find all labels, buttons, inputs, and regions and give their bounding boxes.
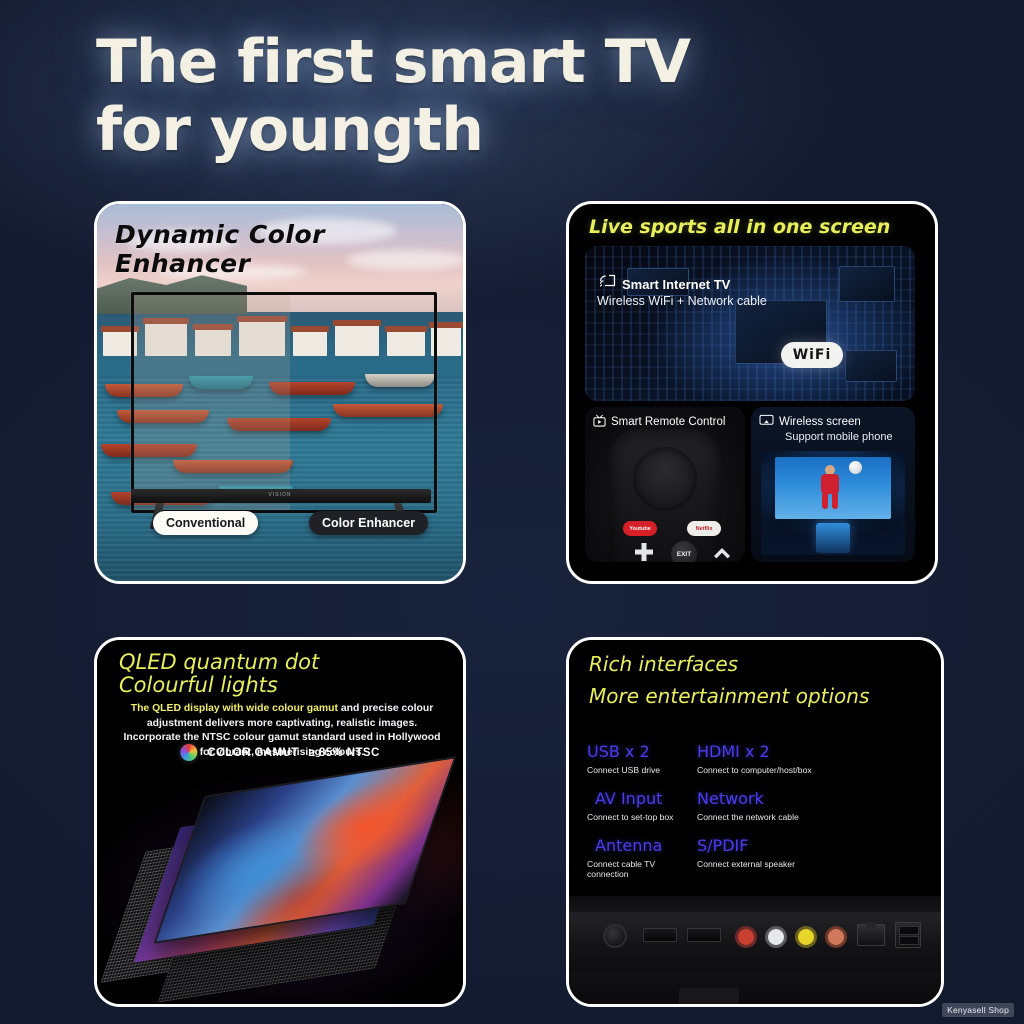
color-gamut-value: ≥ 85% NTSC [309,747,380,759]
interface-desc: Connect to set-top box [587,812,689,822]
interface-desc: Connect external speaker [697,859,917,869]
hdmi-port [687,928,721,942]
interface-item-network: Network Connect the network cable [697,789,917,822]
youtube-button[interactable]: Youtube [623,521,657,536]
rca-port-yellow [795,926,817,948]
smart-internet-tv-label: Smart Internet TV [622,277,730,292]
remote-dpad[interactable] [633,447,697,511]
stand-notch [679,988,739,1004]
panel-rich-interfaces[interactable]: Rich interfaces More entertainment optio… [566,637,944,1007]
mobile-phone [816,523,850,553]
rca-port-red [735,926,757,948]
coaxial-port [603,924,627,948]
interface-name: Antenna [595,836,689,855]
layer-qled-panel [154,756,457,944]
smart-internet-tv-subtitle: Wireless WiFi + Network cable [597,294,767,308]
panel-live-sports[interactable]: Live sports all in one screen Smart Inte… [566,201,938,584]
rca-port-white [765,926,787,948]
cast-preview-image [761,451,905,555]
smart-remote-label: Smart Remote Control [611,416,725,428]
panel3-title-line-1: QLED quantum dot [119,650,319,674]
interface-name: S/PDIF [697,836,917,855]
panel3-title-line-2: Colourful lights [119,673,278,697]
panel4-title-line-1: Rich interfaces [589,652,738,676]
watermark: Kenyasell Shop [942,1003,1014,1017]
qled-layer-stack [117,772,443,982]
wireless-screen-card[interactable]: Wireless screen Support mobile phone [751,407,915,562]
smart-remote-heading: Smart Remote Control [593,414,725,430]
wireless-screen-heading: Wireless screen [759,414,861,430]
interface-desc: Connect USB drive [587,765,689,775]
interface-name: HDMI x 2 [697,742,917,761]
interface-desc: Connect the network cable [697,812,917,822]
hdmi-port [643,928,677,942]
panel4-title-line-2: More entertainment options [589,684,869,708]
page-title: The first smart TV for youngth [96,28,956,164]
headline-line-1: The first smart TV [96,28,956,96]
interface-item-usb: USB x 2 Connect USB drive [587,742,689,775]
color-wheel-icon [180,744,197,761]
remote-body: Youtube Netflix EXIT VOL CH [609,429,721,562]
panel-dynamic-color-enhancer[interactable]: VISION Conventional Color Enhancer Dynam… [94,201,466,584]
promo-page: The first smart TV for youngth [0,0,1024,1024]
smart-internet-tv-card[interactable]: Smart Internet TV Wireless WiFi + Networ… [585,246,915,401]
exit-button[interactable]: EXIT [671,541,697,562]
body-highlight: The QLED display with wide colour gamut [131,703,338,714]
usb-port-stack [895,922,921,948]
channel-up-icon[interactable] [711,541,733,562]
smart-internet-tv-heading: Smart Internet TV [599,274,730,294]
tv-port-strip [569,896,941,1004]
screen-cast-icon [759,414,774,430]
volume-plus-icon[interactable] [633,541,655,562]
label-conventional: Conventional [153,511,258,535]
interface-item-hdmi: HDMI x 2 Connect to computer/host/box [697,742,917,775]
label-color-enhancer: Color Enhancer [309,511,428,535]
interface-desc: Connect cable TV connection [587,859,689,879]
tv-icon [593,414,606,430]
cast-tv-screen [775,457,891,519]
smart-remote-card[interactable]: Youtube Netflix EXIT VOL CH [585,407,745,562]
wireless-screen-subtitle: Support mobile phone [785,431,893,443]
interface-desc: Connect to computer/host/box [697,765,917,775]
netflix-button[interactable]: Netflix [687,521,721,536]
ethernet-port [857,924,885,946]
panel2-title: Live sports all in one screen [589,216,890,238]
interface-name: Network [697,789,917,808]
interface-item-spdif: S/PDIF Connect external speaker [697,836,917,879]
wifi-badge: WiFi [781,342,843,368]
rca-port-red-2 [825,926,847,948]
panel1-title: Dynamic Color Enhancer [115,220,463,278]
headline-line-2: for youngth [96,96,956,164]
panel-qled-quantum-dot[interactable]: QLED quantum dot Colourful lights The QL… [94,637,466,1007]
soccer-player [819,465,841,509]
color-gamut-badge: COLOR GAMUT ≥ 85% NTSC [180,744,379,761]
interface-list: USB x 2 Connect USB drive HDMI x 2 Conne… [587,742,917,879]
soccer-ball-icon [849,461,862,474]
tv-brand-label: VISION [269,492,292,498]
cast-icon [599,274,616,294]
interface-item-av-input: AV Input Connect to set-top box [587,789,689,822]
color-gamut-label: COLOR GAMUT [207,747,298,759]
wireless-screen-label: Wireless screen [779,416,861,428]
tv-screen-frame [131,292,437,513]
interface-name: USB x 2 [587,742,689,761]
interface-item-antenna: Antenna Connect cable TV connection [587,836,689,879]
interface-name: AV Input [595,789,689,808]
